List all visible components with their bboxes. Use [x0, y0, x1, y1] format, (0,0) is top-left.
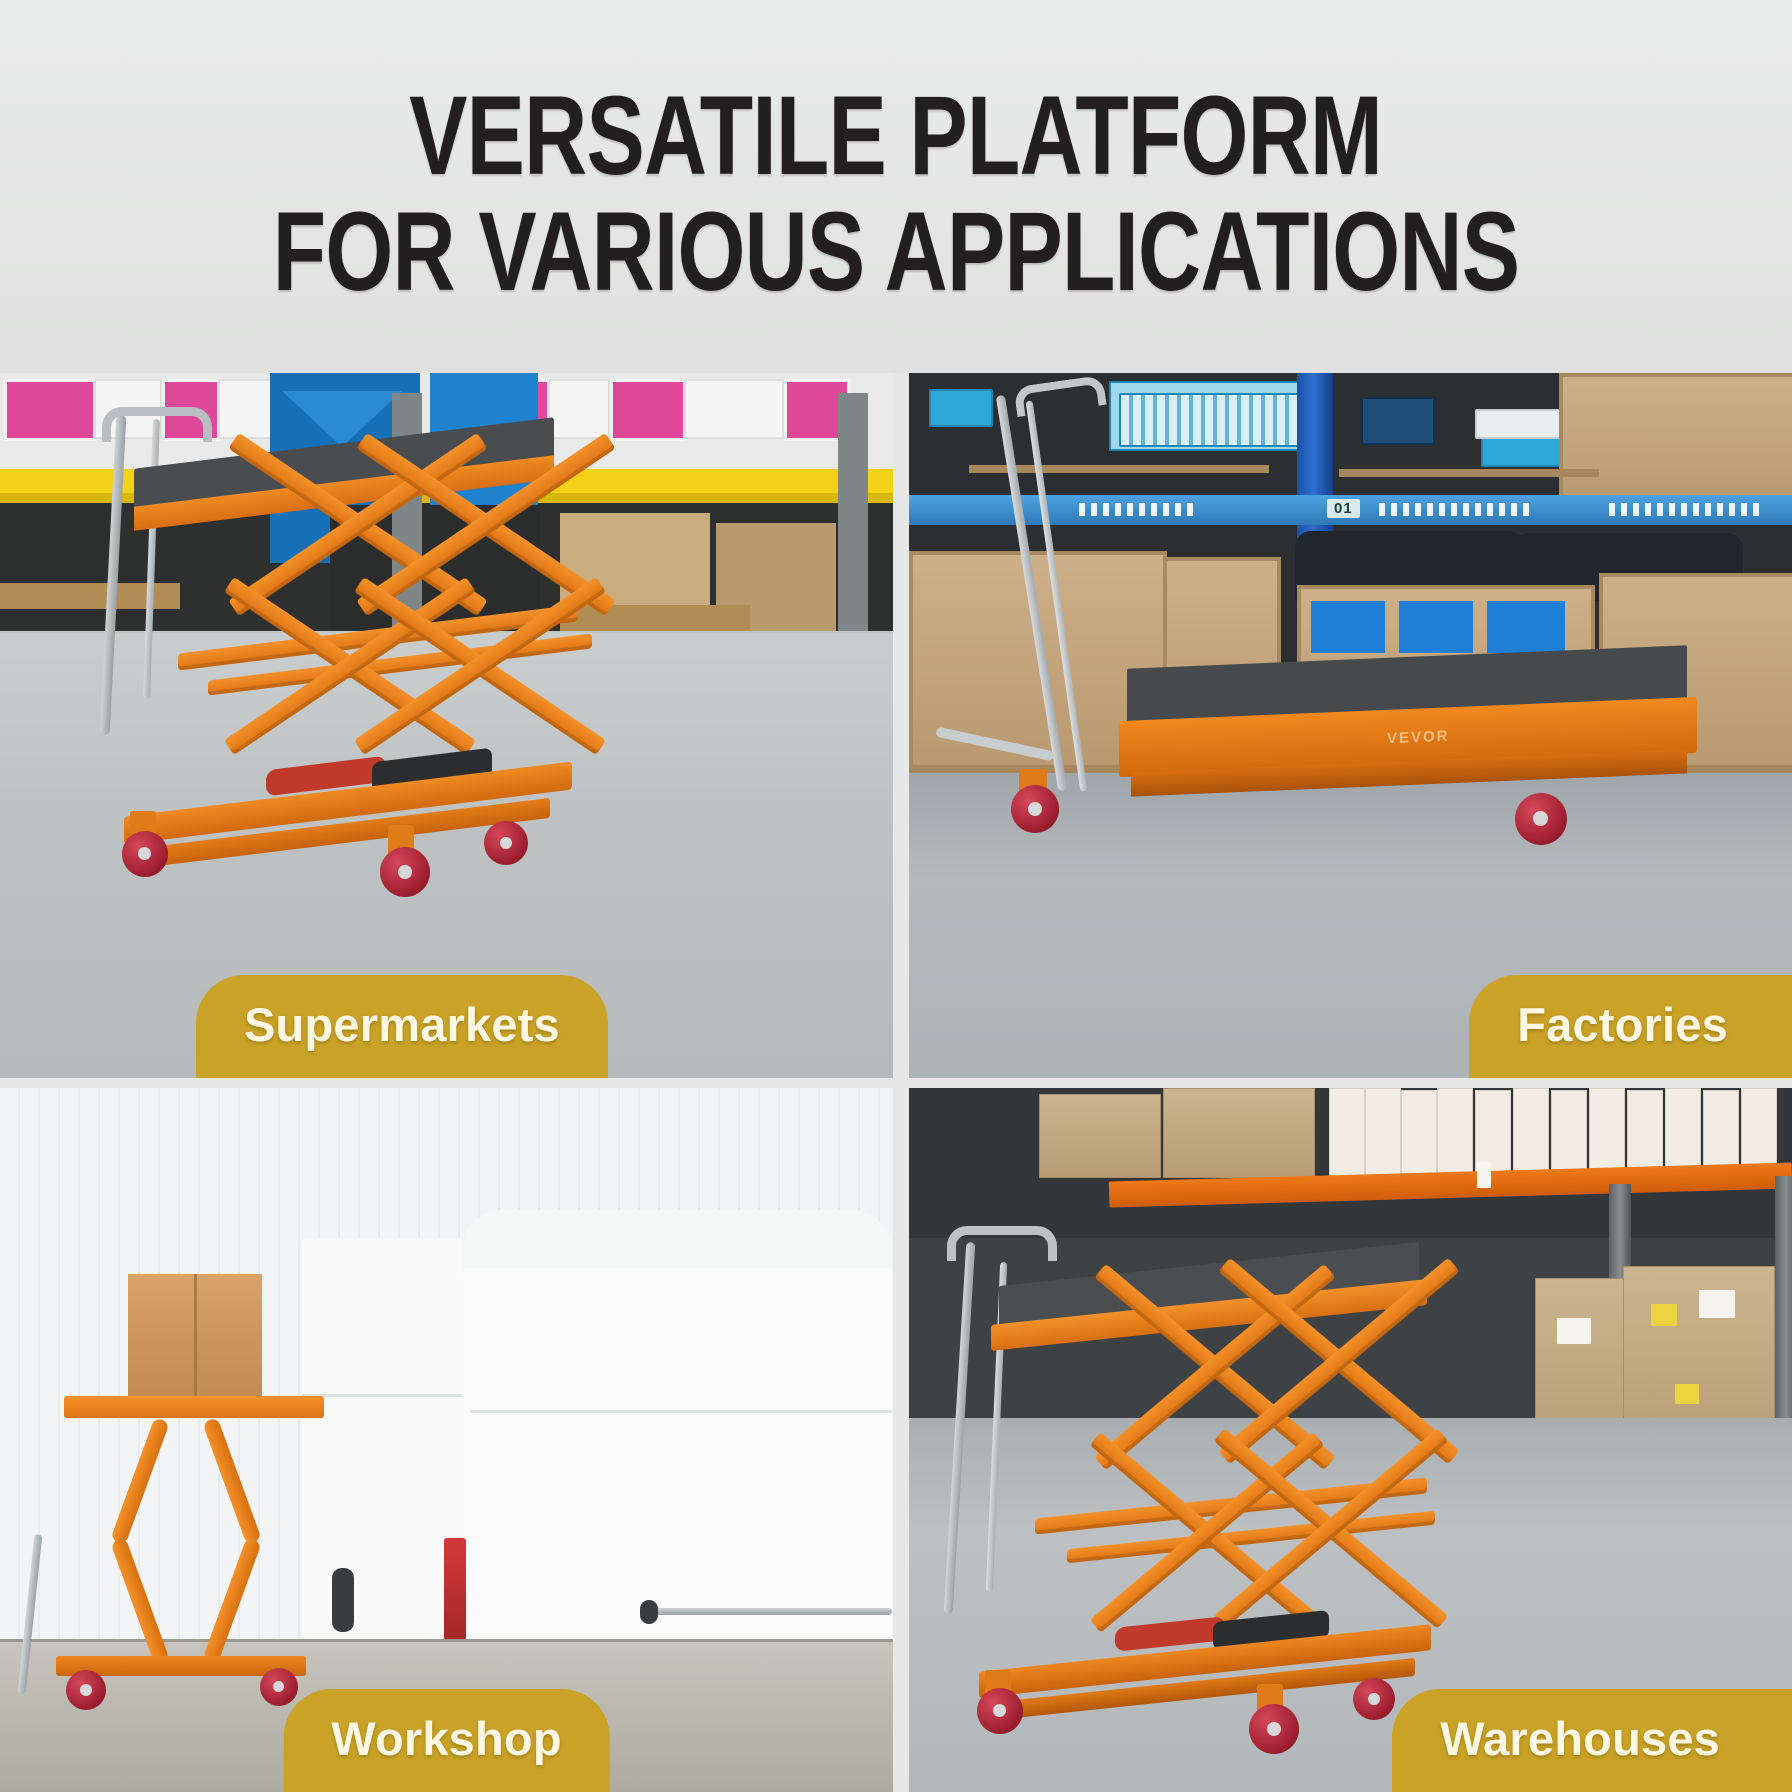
panel-supermarkets[interactable]: Supermarkets	[0, 373, 893, 1078]
badge-warehouses: Warehouses	[1392, 1689, 1792, 1792]
product-brand-mark: VEVOR	[1387, 728, 1450, 748]
application-panel-grid: Supermarkets 01	[0, 373, 1792, 1792]
rack-location-label: 01	[1327, 499, 1360, 518]
product-scissor-lift-raised	[86, 407, 606, 877]
badge-supermarkets: Supermarkets	[196, 975, 608, 1078]
badge-workshop: Workshop	[283, 1689, 610, 1792]
scene-factory: 01	[909, 373, 1792, 1078]
headline-line-1: VERSATILE PLATFORM	[410, 81, 1383, 191]
headline-line-2: FOR VARIOUS APPLICATIONS	[273, 197, 1519, 307]
product-feature-poster: VERSATILE PLATFORM FOR VARIOUS APPLICATI…	[0, 0, 1792, 1792]
panel-workshop[interactable]: Workshop	[0, 1088, 893, 1792]
scene-warehouse	[909, 1088, 1792, 1792]
product-lift-table-with-box	[46, 1284, 376, 1704]
panel-warehouses[interactable]: Warehouses	[909, 1088, 1792, 1792]
product-scissor-lift-warehouse	[939, 1248, 1499, 1748]
panel-factories[interactable]: 01	[909, 373, 1792, 1078]
product-lift-table-lowered: VEVOR	[1027, 643, 1707, 873]
scene-supermarket	[0, 373, 893, 1078]
badge-factories: Factories	[1469, 975, 1792, 1078]
poster-header: VERSATILE PLATFORM FOR VARIOUS APPLICATI…	[0, 0, 1792, 373]
scene-workshop	[0, 1088, 893, 1792]
